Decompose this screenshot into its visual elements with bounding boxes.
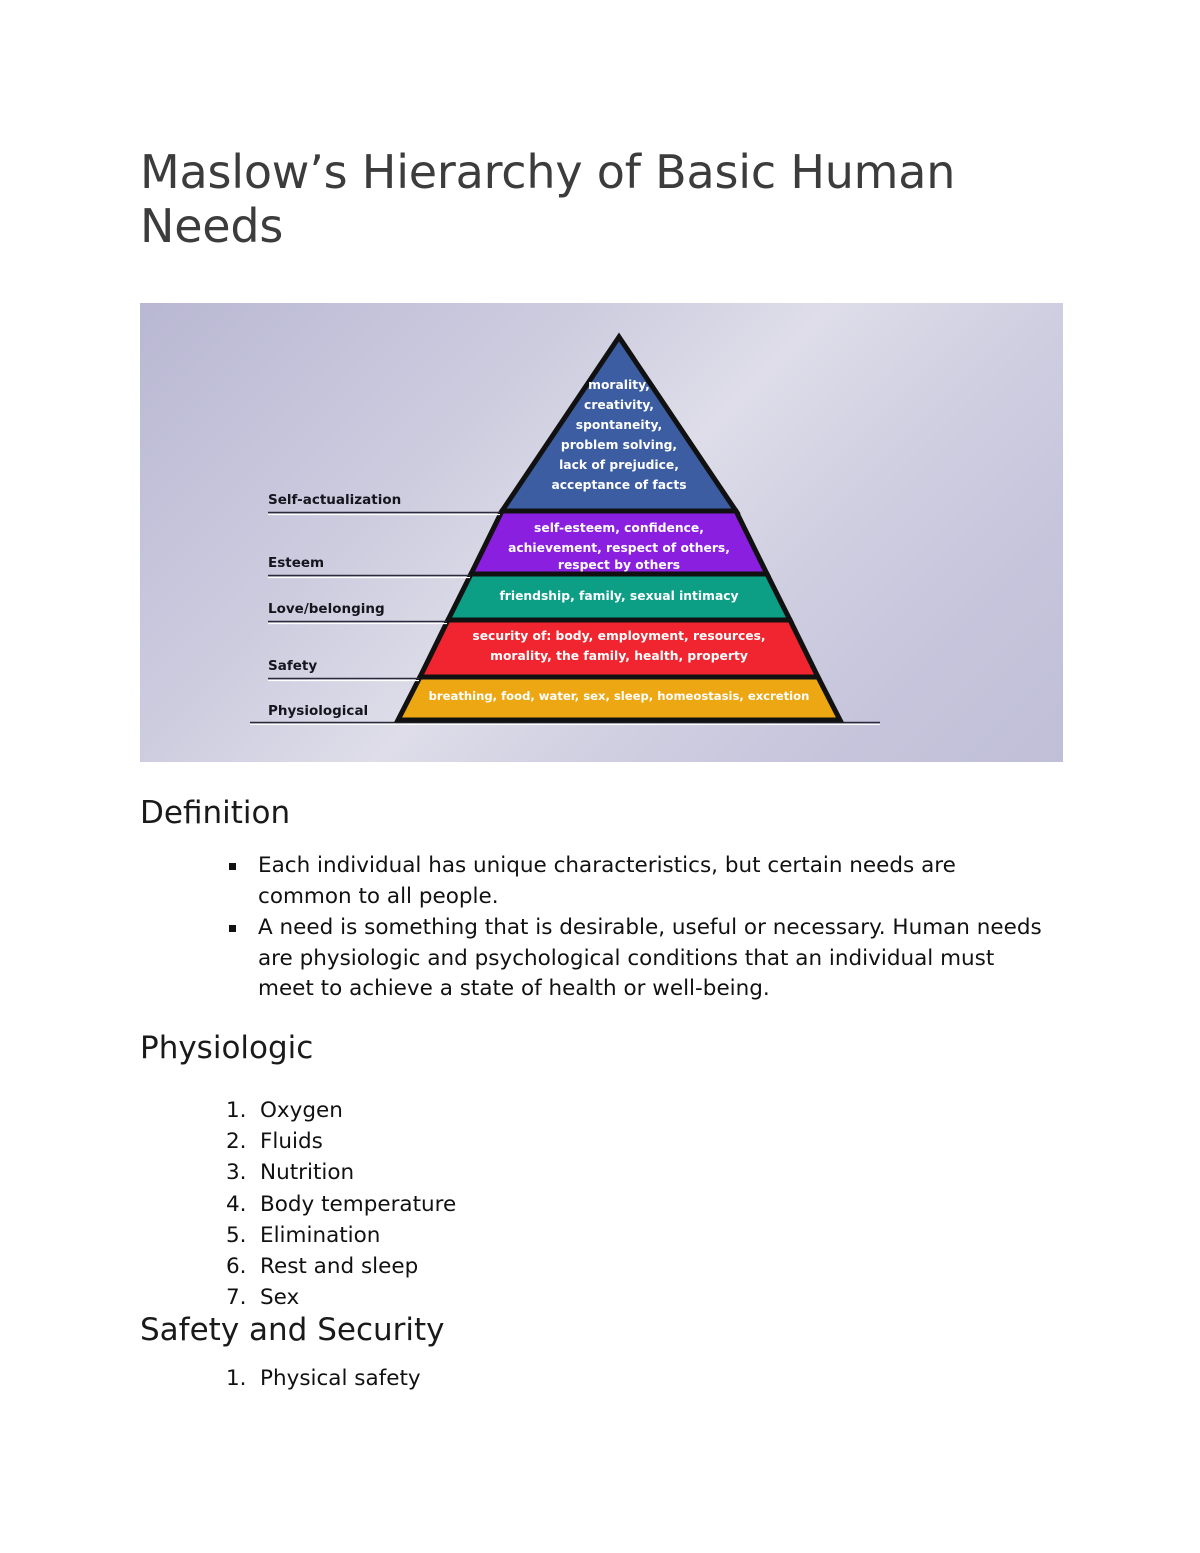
list-item: 6.Rest and sleep bbox=[226, 1251, 456, 1282]
page-title: Maslow’s Hierarchy of Basic Human Needs bbox=[140, 146, 1040, 254]
pyramid-text-self-actualization-4: problem solving, bbox=[561, 438, 677, 452]
pyramid-text-self-actualization-6: acceptance of facts bbox=[551, 478, 686, 492]
list-item-number: 1. bbox=[226, 1095, 260, 1126]
list-item-number: 6. bbox=[226, 1251, 260, 1282]
document-page: Maslow’s Hierarchy of Basic Human Needs bbox=[0, 0, 1200, 1553]
pyramid-text-love-belonging-1: friendship, family, sexual intimacy bbox=[499, 589, 738, 603]
definition-bullet-list: Each individual has unique characteristi… bbox=[226, 851, 1046, 1006]
pyramid-side-label-safety: Safety bbox=[268, 658, 317, 674]
section-heading-physiologic: Physiologic bbox=[140, 1031, 313, 1065]
bullet-square-icon bbox=[229, 925, 236, 932]
pyramid-diagram-svg: Self-actualization Esteem Love/belonging… bbox=[140, 303, 1063, 762]
list-item: 2.Fluids bbox=[226, 1126, 456, 1157]
maslow-pyramid-figure: Self-actualization Esteem Love/belonging… bbox=[140, 303, 1063, 762]
section-heading-safety-and-security: Safety and Security bbox=[140, 1313, 445, 1347]
list-item-label: Body temperature bbox=[260, 1192, 456, 1217]
list-item-label: Nutrition bbox=[260, 1160, 354, 1185]
list-item-number: 1. bbox=[226, 1363, 260, 1394]
list-item: 5.Elimination bbox=[226, 1220, 456, 1251]
list-item-number: 4. bbox=[226, 1189, 260, 1220]
pyramid-text-self-actualization-3: spontaneity, bbox=[576, 418, 662, 432]
list-item-number: 3. bbox=[226, 1157, 260, 1188]
pyramid-side-label-love-belonging: Love/belonging bbox=[268, 601, 385, 617]
list-item-number: 7. bbox=[226, 1282, 260, 1313]
list-item-label: Rest and sleep bbox=[260, 1254, 418, 1279]
list-item: 7.Sex bbox=[226, 1282, 456, 1313]
pyramid-side-label-self-actualization: Self-actualization bbox=[268, 492, 401, 508]
list-item-label: Oxygen bbox=[260, 1098, 343, 1123]
figure-canvas: Self-actualization Esteem Love/belonging… bbox=[140, 303, 1063, 762]
list-item-label: Elimination bbox=[260, 1223, 380, 1248]
pyramid-side-label-esteem: Esteem bbox=[268, 555, 324, 571]
pyramid-text-safety-2: morality, the family, health, property bbox=[490, 649, 748, 663]
pyramid-text-self-actualization-5: lack of prejudice, bbox=[559, 458, 679, 472]
pyramid-text-esteem-1: self-esteem, confidence, bbox=[534, 521, 704, 535]
list-item-label: Fluids bbox=[260, 1129, 323, 1154]
list-item: 3.Nutrition bbox=[226, 1157, 456, 1188]
list-item-label: A need is something that is desirable, u… bbox=[258, 915, 1042, 1001]
section-heading-definition: Definition bbox=[140, 796, 290, 830]
pyramid-side-label-physiological: Physiological bbox=[268, 703, 368, 719]
list-item: 1.Oxygen bbox=[226, 1095, 456, 1126]
list-item: 4.Body temperature bbox=[226, 1189, 456, 1220]
pyramid-text-esteem-2: achievement, respect of others, bbox=[508, 541, 730, 555]
list-item: Each individual has unique characteristi… bbox=[226, 851, 1046, 912]
list-item: A need is something that is desirable, u… bbox=[226, 913, 1046, 1005]
pyramid-text-self-actualization-2: creativity, bbox=[584, 398, 654, 412]
pyramid-text-physiological-1: breathing, food, water, sex, sleep, home… bbox=[429, 689, 810, 703]
list-item: 1.Physical safety bbox=[226, 1363, 421, 1394]
list-item-label: Sex bbox=[260, 1285, 299, 1310]
pyramid-text-safety-1: security of: body, employment, resources… bbox=[472, 629, 765, 643]
pyramid-text-self-actualization-1: morality, bbox=[588, 378, 650, 392]
bullet-square-icon bbox=[229, 863, 236, 870]
list-item-number: 5. bbox=[226, 1220, 260, 1251]
list-item-label: Physical safety bbox=[260, 1366, 421, 1391]
list-item-number: 2. bbox=[226, 1126, 260, 1157]
list-item-label: Each individual has unique characteristi… bbox=[258, 853, 956, 909]
pyramid-text-esteem-3: respect by others bbox=[558, 558, 680, 572]
safety-numbered-list: 1.Physical safety bbox=[226, 1363, 421, 1394]
physiologic-numbered-list: 1.Oxygen 2.Fluids 3.Nutrition 4.Body tem… bbox=[226, 1095, 456, 1313]
